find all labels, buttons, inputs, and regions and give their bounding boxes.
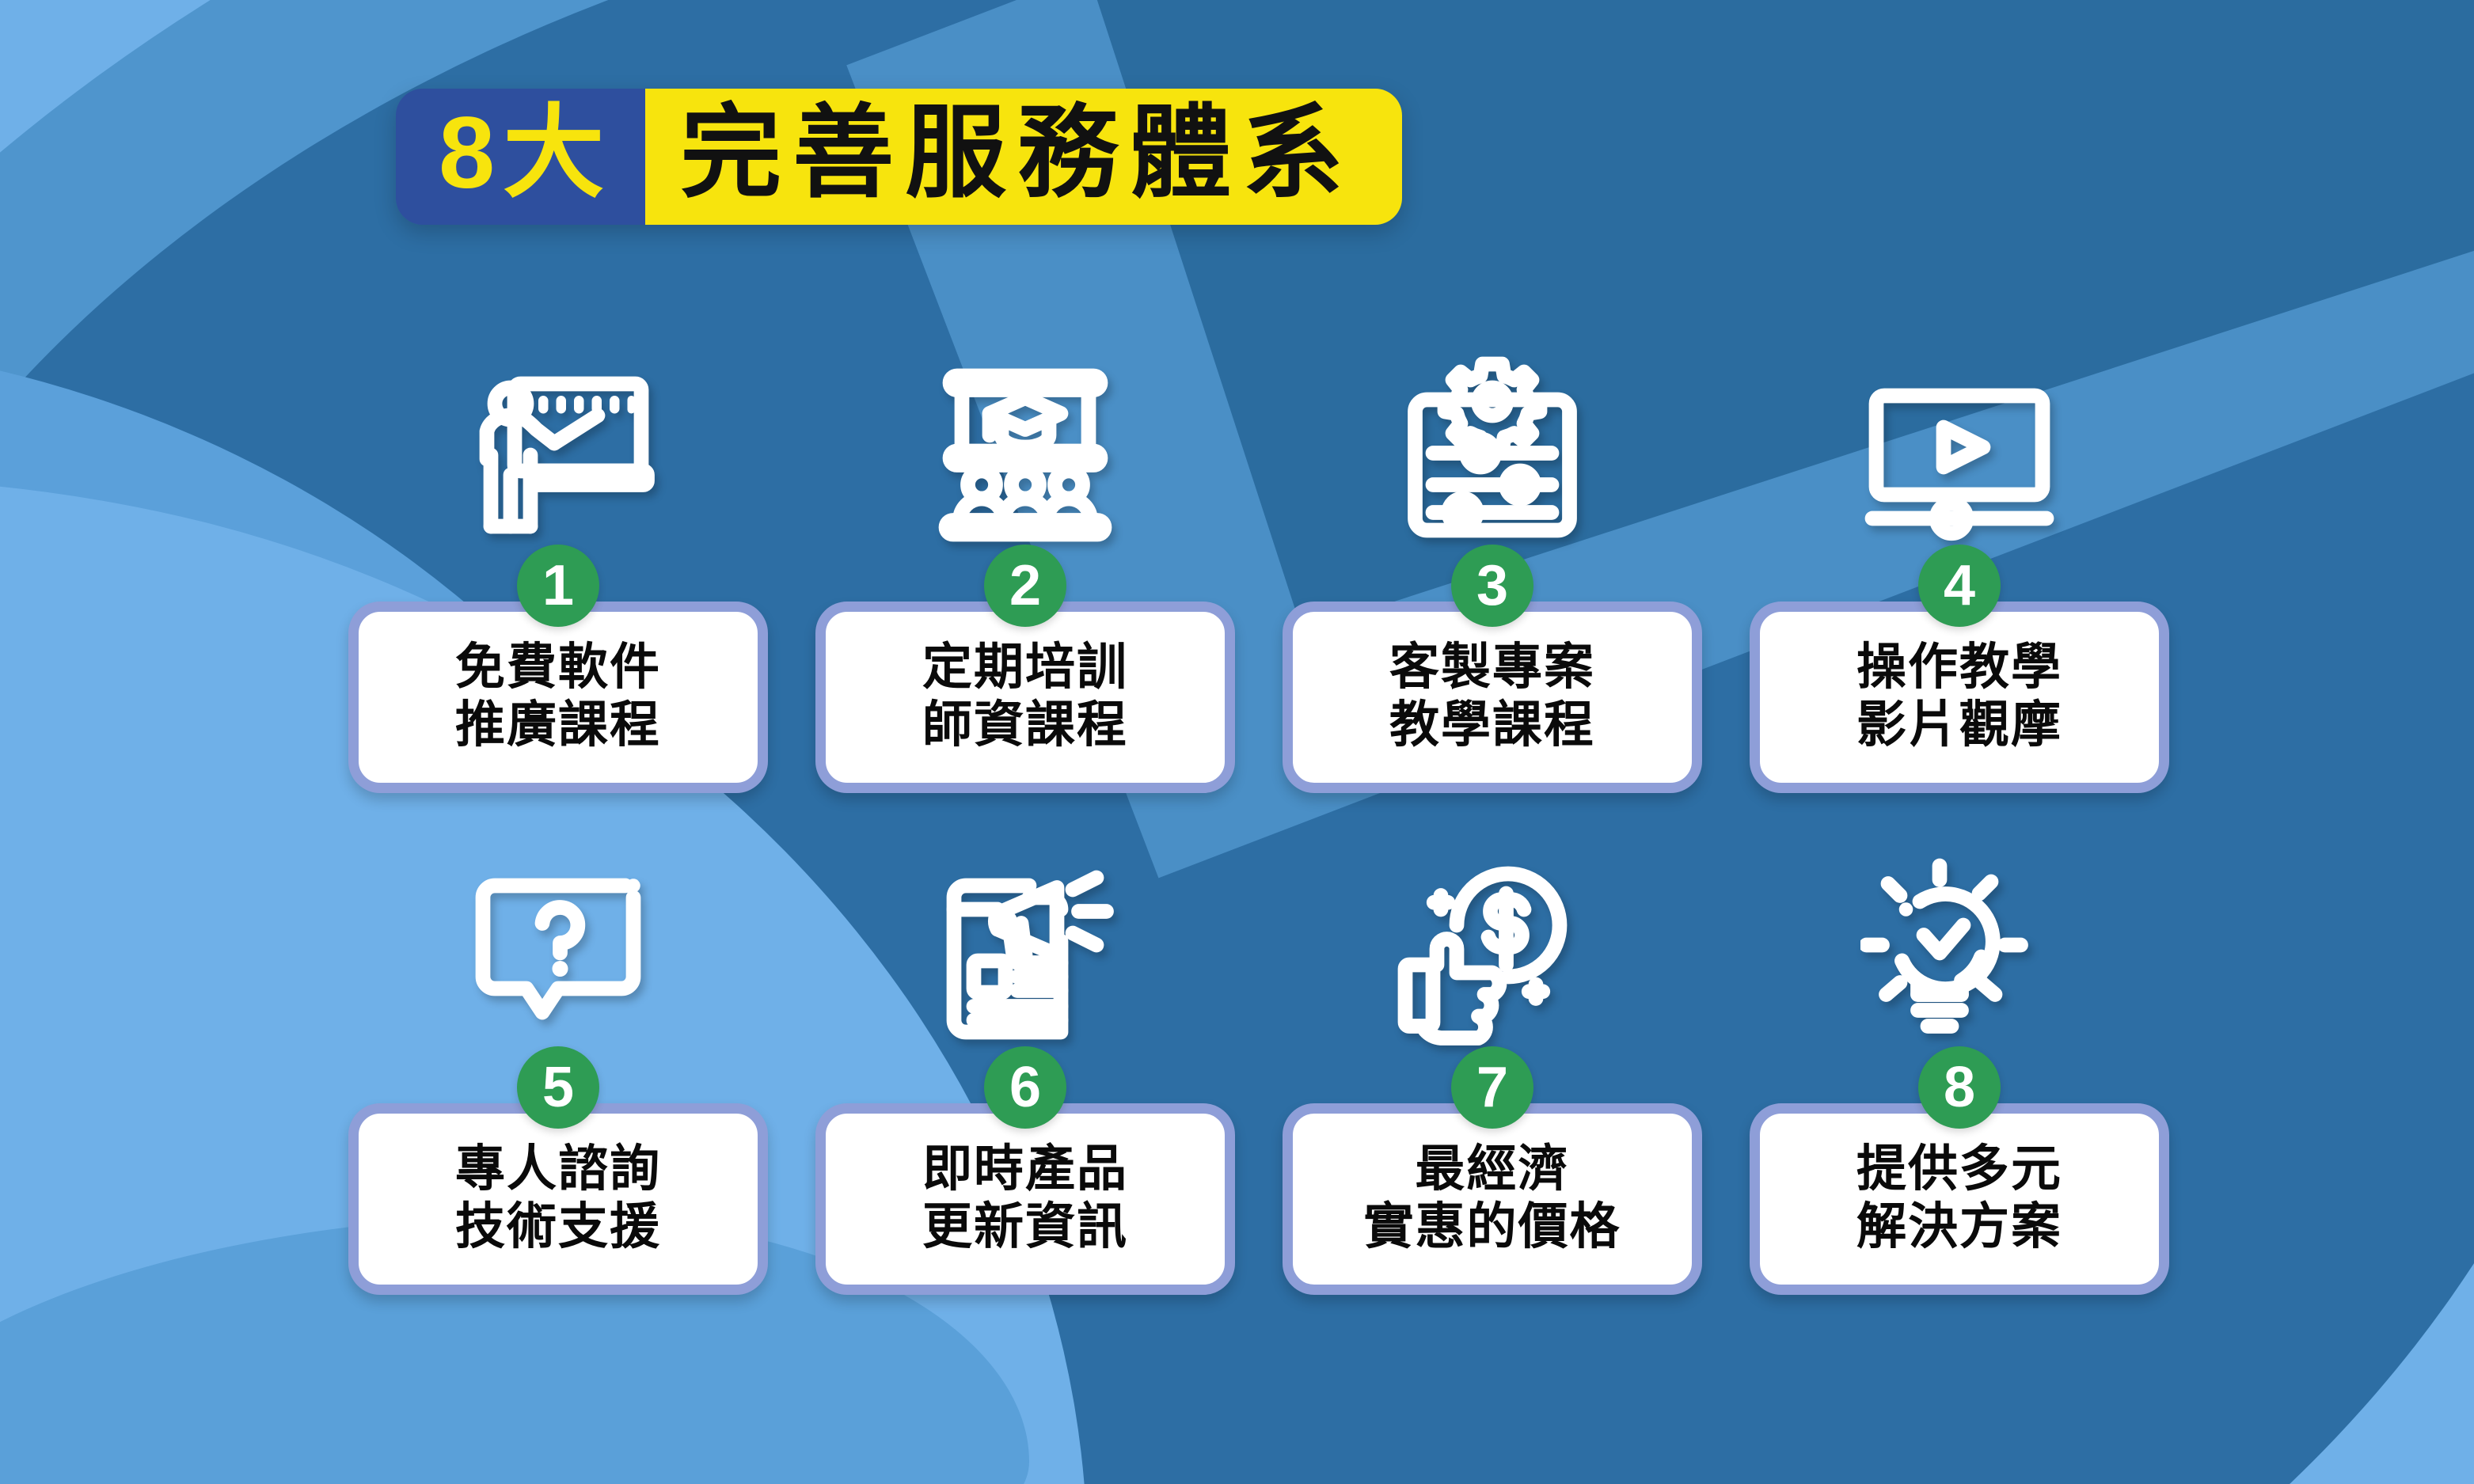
feature-number-badge: 7: [1451, 1046, 1533, 1129]
feature-cell-4[interactable]: 4 操作教學 影片觀摩: [1750, 340, 2169, 793]
feature-label-line1: 客製專案: [1301, 639, 1684, 696]
lightbulb-check-icon: [1860, 842, 2058, 1064]
feature-label-line2: 技術支援: [367, 1198, 750, 1256]
title-banner: 8大 完善服務體系: [396, 89, 1402, 225]
feature-label-line2: 解決方案: [1768, 1198, 2151, 1256]
feature-label-line2: 實惠的價格: [1301, 1198, 1684, 1256]
feature-card[interactable]: 最經濟 實惠的價格: [1283, 1103, 1702, 1295]
feature-label-line2: 教學課程: [1301, 696, 1684, 754]
feature-card[interactable]: 專人諮詢 技術支援: [348, 1103, 768, 1295]
feature-label-line2: 影片觀摩: [1768, 696, 2151, 754]
feature-label-line1: 免費軟件: [367, 639, 750, 696]
feature-number-badge: 4: [1918, 545, 2001, 627]
feature-number-badge: 1: [517, 545, 599, 627]
feature-card[interactable]: 客製專案 教學課程: [1283, 602, 1702, 793]
feature-cell-8[interactable]: 8 提供多元 解決方案: [1750, 842, 2169, 1295]
teacher-whiteboard-icon: [459, 340, 657, 562]
feature-cell-3[interactable]: 3 客製專案 教學課程: [1283, 340, 1702, 793]
title-headline-text: 完善服務體系: [680, 103, 1355, 204]
feature-cell-7[interactable]: 7 最經濟 實惠的價格: [1283, 842, 1702, 1295]
title-headline-block: 完善服務體系: [645, 89, 1402, 225]
feature-card[interactable]: 操作教學 影片觀摩: [1750, 602, 2169, 793]
infographic-poster: 8大 完善服務體系: [0, 0, 2474, 1484]
feature-number-badge: 6: [984, 1046, 1066, 1129]
feature-cell-2[interactable]: 2 定期培訓 師資課程: [815, 340, 1235, 793]
title-badge-text: 8大: [439, 103, 612, 204]
feature-label-line1: 提供多元: [1768, 1141, 2151, 1198]
feature-cell-1[interactable]: 1 免費軟件 推廣課程: [348, 340, 768, 793]
feature-label-line1: 即時產品: [834, 1141, 1217, 1198]
feature-card[interactable]: 提供多元 解決方案: [1750, 1103, 2169, 1295]
feature-cell-5[interactable]: 5 專人諮詢 技術支援: [348, 842, 768, 1295]
feature-grid: 1 免費軟件 推廣課程: [348, 340, 2169, 1295]
question-speech-bubble-icon: [459, 842, 657, 1064]
video-play-monitor-icon: [1860, 340, 2058, 562]
title-badge-block: 8大: [396, 89, 645, 225]
feature-number-badge: 8: [1918, 1046, 2001, 1129]
feature-number-badge: 3: [1451, 545, 1533, 627]
feature-label-line1: 專人諮詢: [367, 1141, 750, 1198]
feature-card[interactable]: 即時產品 更新資訊: [815, 1103, 1235, 1295]
gear-settings-sliders-icon: [1393, 340, 1591, 562]
feature-label-line2: 推廣課程: [367, 696, 750, 754]
feature-card[interactable]: 定期培訓 師資課程: [815, 602, 1235, 793]
feature-number-badge: 5: [517, 1046, 599, 1129]
feature-card[interactable]: 免費軟件 推廣課程: [348, 602, 768, 793]
feature-label-line1: 最經濟: [1301, 1141, 1684, 1198]
feature-label-line2: 更新資訊: [834, 1198, 1217, 1256]
classroom-graduation-icon: [926, 340, 1124, 562]
feature-number-badge: 2: [984, 545, 1066, 627]
news-megaphone-icon: [926, 842, 1124, 1064]
feature-label-line2: 師資課程: [834, 696, 1217, 754]
feature-label-line1: 定期培訓: [834, 639, 1217, 696]
thumbs-up-dollar-icon: [1393, 842, 1591, 1064]
feature-label-line1: 操作教學: [1768, 639, 2151, 696]
feature-cell-6[interactable]: 6 即時產品 更新資訊: [815, 842, 1235, 1295]
